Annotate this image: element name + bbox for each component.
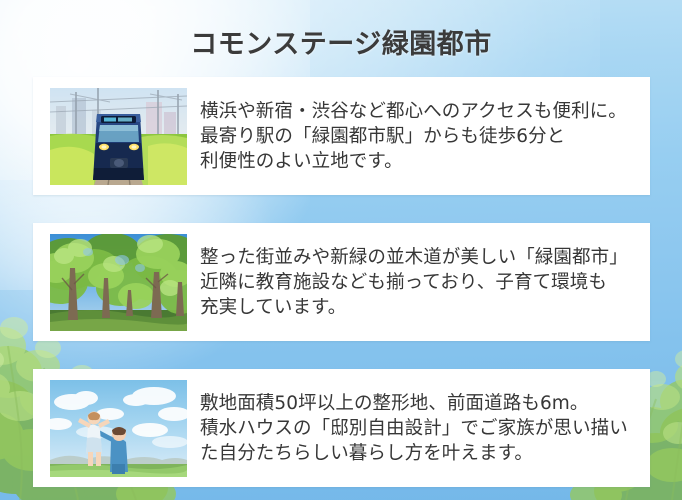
family-in-field-photo [50, 380, 187, 477]
train-photo [50, 88, 187, 185]
feature-card-lot-design[interactable]: 敷地面積50坪以上の整形地、前面道路も6m。 積水ハウスの「邸別自由設計」でご家… [33, 369, 650, 487]
page-title: コモンステージ緑園都市 [0, 22, 682, 61]
tree-lined-avenue-photo [50, 234, 187, 331]
feature-card-list: 横浜や新宿・渋谷など都心へのアクセスも便利に。 最寄り駅の「緑園都市駅」からも徒… [33, 77, 650, 487]
feature-card-access[interactable]: 横浜や新宿・渋谷など都心へのアクセスも便利に。 最寄り駅の「緑園都市駅」からも徒… [33, 77, 650, 195]
card-text-access: 横浜や新宿・渋谷など都心へのアクセスも便利に。 最寄り駅の「緑園都市駅」からも徒… [187, 99, 650, 174]
feature-card-streetscape[interactable]: 整った街並みや新緑の並木道が美しい「緑園都市」 近隣に教育施設なども揃っており、… [33, 223, 650, 341]
card-text-streetscape: 整った街並みや新緑の並木道が美しい「緑園都市」 近隣に教育施設なども揃っており、… [187, 245, 650, 320]
promo-slide: コモンステージ緑園都市 [0, 0, 682, 500]
card-text-lot-design: 敷地面積50坪以上の整形地、前面道路も6m。 積水ハウスの「邸別自由設計」でご家… [187, 391, 650, 466]
